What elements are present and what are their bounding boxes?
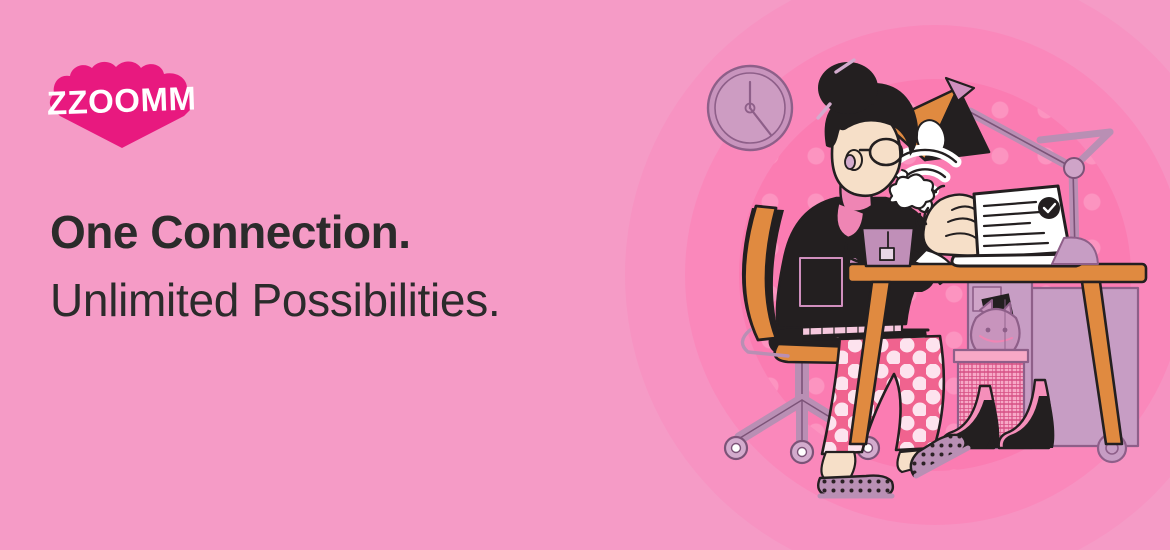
hero-illustration xyxy=(640,0,1170,550)
headline-line-2: Unlimited Possibilities. xyxy=(50,273,650,327)
zzoomm-logo[interactable]: ZZOOMM xyxy=(44,58,200,152)
document-check-badge xyxy=(1038,197,1060,219)
headline-block: One Connection. Unlimited Possibilities. xyxy=(50,205,650,328)
svg-text:ZZOOMM: ZZOOMM xyxy=(46,79,197,121)
zzoomm-wordmark: ZZOOMM xyxy=(46,79,197,121)
wall-clock xyxy=(708,66,792,150)
hero-banner: ZZOOMM One Connection. Unlimited Possibi… xyxy=(0,0,1170,550)
headline-line-1: One Connection. xyxy=(50,205,650,259)
